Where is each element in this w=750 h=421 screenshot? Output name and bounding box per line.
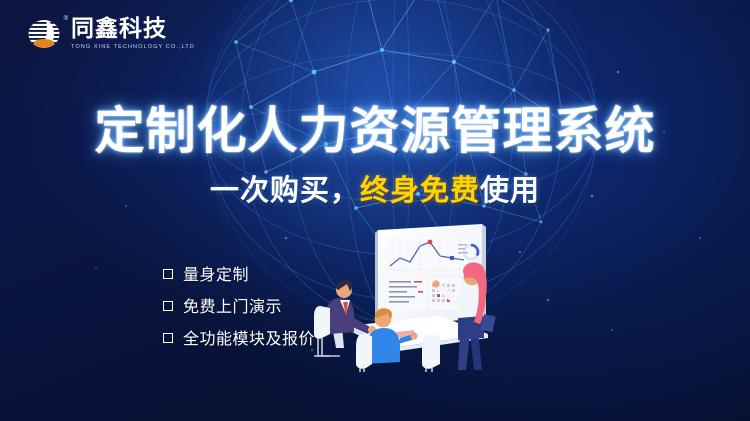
subtitle-highlight: 终身免费 (360, 173, 480, 207)
brand-name-en: TONG XINE TECHNOLOGY CO.,LTD (71, 43, 195, 51)
feature-label: 全功能模块及报价 (183, 329, 315, 348)
brand-logo-text: 同鑫科技 TONG XINE TECHNOLOGY CO.,LTD (71, 17, 195, 51)
feature-label: 量身定制 (183, 265, 249, 284)
feature-label: 免费上门演示 (183, 297, 282, 316)
list-item: 全功能模块及报价 (163, 328, 315, 348)
page-subtitle: 一次购买，终身免费使用 (0, 173, 750, 207)
business-meeting-dashboard-illustration (300, 222, 530, 372)
line-chart-widget (386, 238, 474, 274)
brand-logo: ® 同鑫科技 TONG XINE TECHNOLOGY CO.,LTD (27, 16, 195, 52)
subtitle-suffix: 使用 (480, 173, 540, 207)
square-bullet-icon (163, 269, 173, 279)
square-bullet-icon (163, 301, 173, 311)
subtitle-prefix: 一次购买， (210, 173, 360, 207)
promo-banner: ® 同鑫科技 TONG XINE TECHNOLOGY CO.,LTD 定制化人… (0, 0, 750, 421)
list-item: 量身定制 (163, 264, 315, 284)
tongxin-globe-sail-logo-icon: ® (27, 16, 63, 52)
list-item: 免费上门演示 (163, 296, 315, 316)
square-bullet-icon (163, 333, 173, 343)
page-title: 定制化人力资源管理系统 (0, 103, 750, 159)
feature-list: 量身定制 免费上门演示 全功能模块及报价 (163, 264, 315, 360)
empty-chair (422, 334, 440, 372)
brand-name-cn: 同鑫科技 (71, 17, 195, 42)
kpi-text-panel (386, 278, 426, 310)
registered-trademark-icon: ® (64, 16, 68, 22)
